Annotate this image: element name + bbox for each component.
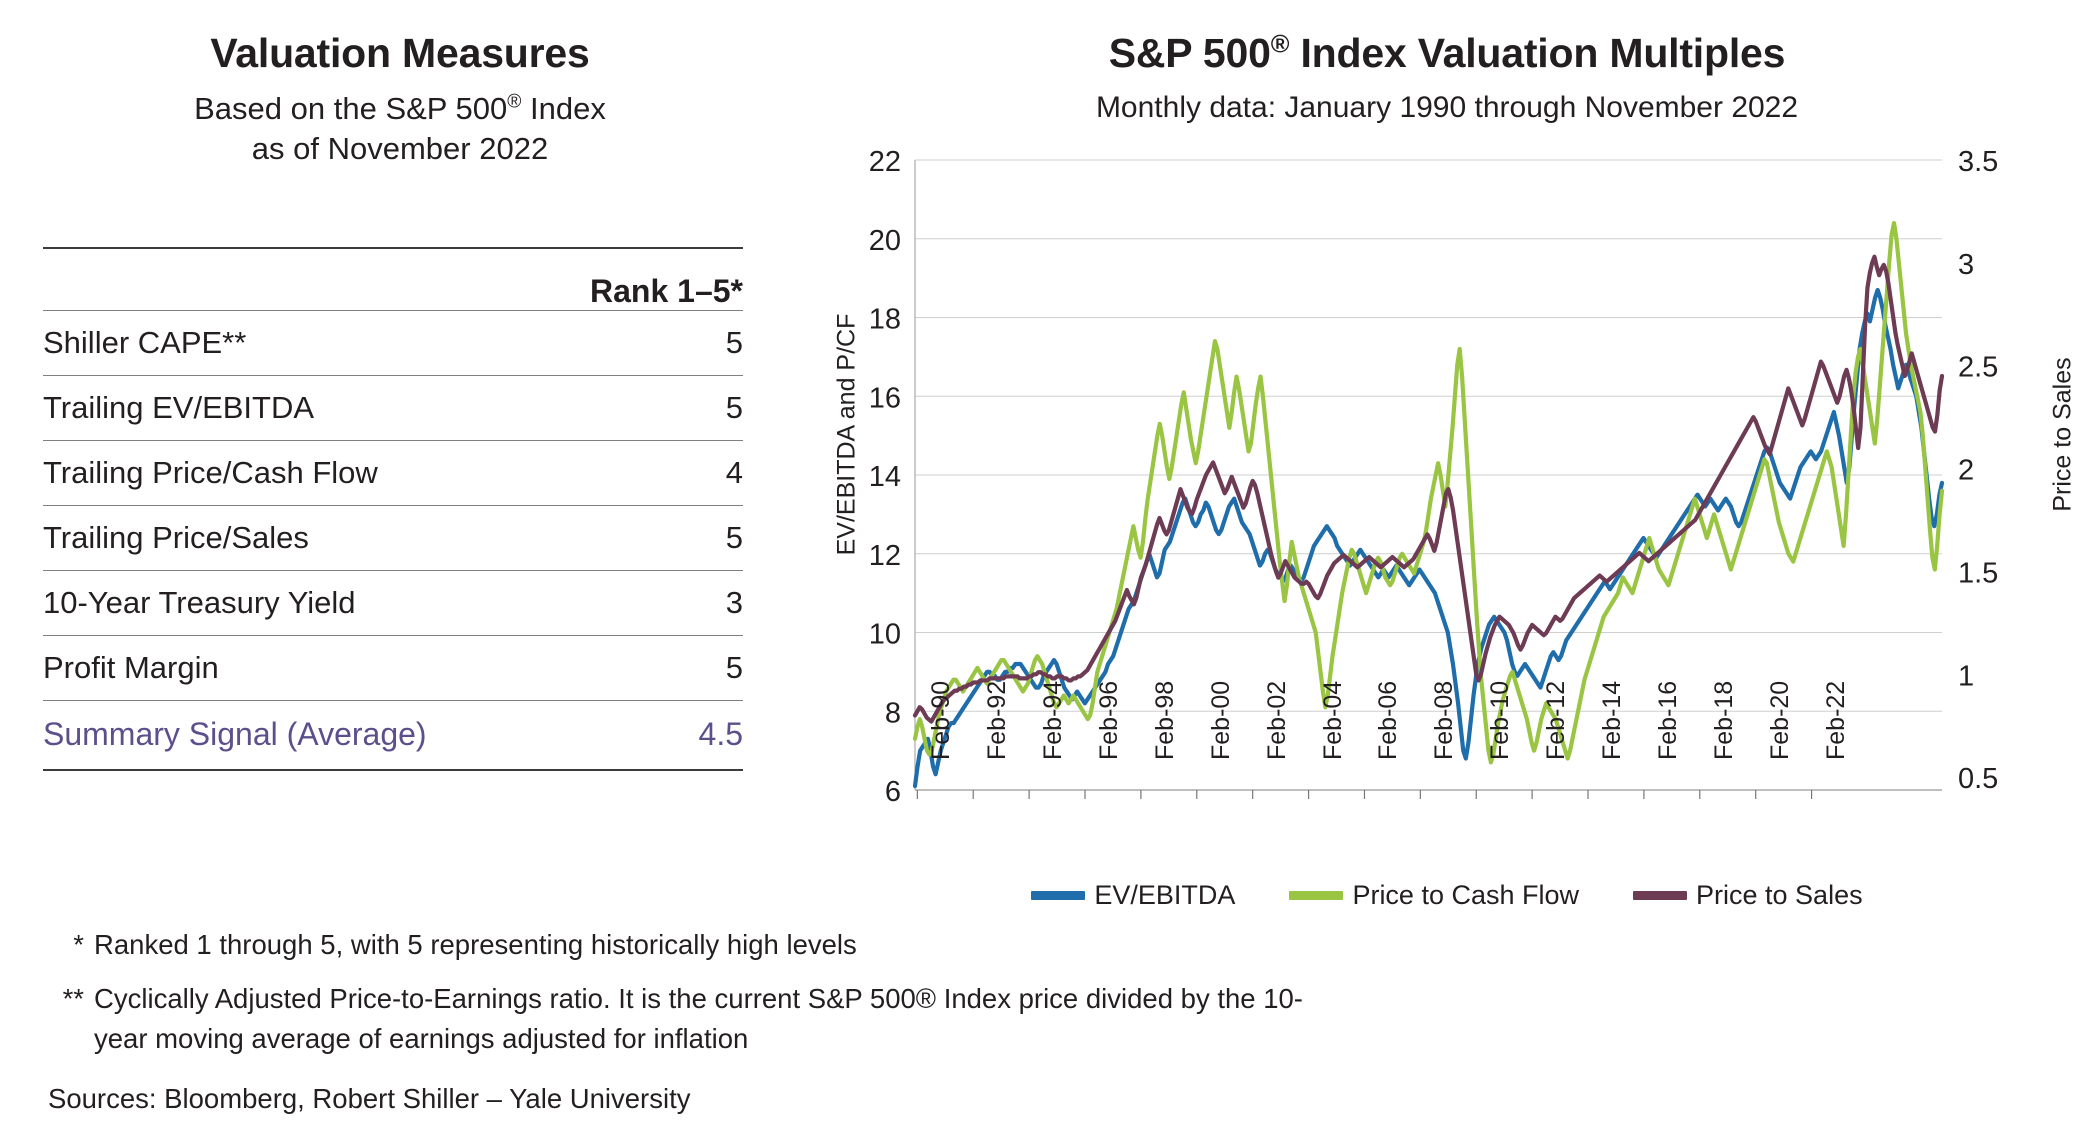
x-axis-tick-label: Feb-14 bbox=[1598, 681, 1627, 760]
table-header-row: Rank 1–5* bbox=[43, 248, 743, 310]
measure-rank: 5 bbox=[543, 505, 743, 570]
legend-item-price-to-sales: Price to Sales bbox=[1633, 880, 1863, 911]
x-axis-tick-label: Feb-12 bbox=[1542, 681, 1571, 760]
x-axis-tick-label: Feb-04 bbox=[1319, 681, 1348, 760]
summary-signal-row: Summary Signal (Average) 4.5 bbox=[43, 700, 743, 770]
subtitle-line-1: Based on the S&P 500® Index bbox=[0, 89, 800, 129]
y-axis-left-tick: 12 bbox=[869, 540, 901, 572]
legend-swatch-price-to-cash-flow bbox=[1289, 891, 1343, 900]
measure-label: 10-Year Treasury Yield bbox=[43, 570, 543, 635]
x-axis-tick-label: Feb-00 bbox=[1207, 681, 1236, 760]
table-row: Trailing Price/Cash Flow 4 bbox=[43, 440, 743, 505]
footnote-marker: ** bbox=[48, 979, 94, 1059]
legend-swatch-price-to-sales bbox=[1633, 891, 1687, 900]
legend-swatch-ev-ebitda bbox=[1031, 891, 1085, 900]
y-axis-left-tick: 8 bbox=[885, 697, 901, 729]
left-panel-subtitle: Based on the S&P 500® Index as of Novemb… bbox=[0, 89, 800, 168]
y-axis-right-tick: 3.5 bbox=[1958, 150, 1998, 178]
measure-label: Shiller CAPE** bbox=[43, 310, 543, 375]
measure-rank: 3 bbox=[543, 570, 743, 635]
y-axis-left-tick: 22 bbox=[869, 150, 901, 178]
x-axis-tick-labels: Feb-90Feb-92Feb-94Feb-96Feb-98Feb-00Feb-… bbox=[800, 760, 2094, 900]
table-row: Shiller CAPE** 5 bbox=[43, 310, 743, 375]
x-axis-tick-label: Feb-94 bbox=[1039, 681, 1068, 760]
y-axis-left-tick: 14 bbox=[869, 461, 901, 493]
column-header-rank: Rank 1–5* bbox=[543, 248, 743, 310]
x-axis-tick-label: Feb-20 bbox=[1766, 681, 1795, 760]
registered-mark-icon: ® bbox=[507, 92, 521, 113]
subtitle-line-2: as of November 2022 bbox=[0, 129, 800, 169]
y-axis-left-tick: 18 bbox=[869, 304, 901, 336]
chart-title: S&P 500® Index Valuation Multiples bbox=[800, 30, 2094, 77]
measure-rank: 5 bbox=[543, 310, 743, 375]
y-axis-right-tick: 2.5 bbox=[1958, 352, 1998, 384]
registered-mark-icon: ® bbox=[1271, 30, 1290, 58]
table-row: Trailing Price/Sales 5 bbox=[43, 505, 743, 570]
column-header-measure bbox=[43, 248, 543, 310]
chart-panel: S&P 500® Index Valuation Multiples Month… bbox=[800, 0, 2094, 1129]
legend-label-price-to-sales: Price to Sales bbox=[1696, 880, 1863, 911]
chart-subtitle: Monthly data: January 1990 through Novem… bbox=[800, 91, 2094, 125]
table-head: Rank 1–5* bbox=[43, 248, 743, 310]
y-axis-left-tick: 20 bbox=[869, 225, 901, 257]
legend-label-price-to-cash-flow: Price to Cash Flow bbox=[1352, 880, 1579, 911]
x-axis-tick-label: Feb-02 bbox=[1263, 681, 1292, 760]
measure-label: Trailing EV/EBITDA bbox=[43, 375, 543, 440]
y-axis-right-tick: 1.5 bbox=[1958, 557, 1998, 589]
measure-label: Profit Margin bbox=[43, 635, 543, 700]
x-axis-tick-label: Feb-18 bbox=[1710, 681, 1739, 760]
y-axis-right-tick: 1 bbox=[1958, 660, 1974, 692]
y-axis-left-tick: 16 bbox=[869, 382, 901, 414]
x-axis-tick-label: Feb-10 bbox=[1486, 681, 1515, 760]
measure-rank: 4 bbox=[543, 440, 743, 505]
measure-rank: 5 bbox=[543, 375, 743, 440]
table-body: Shiller CAPE** 5 Trailing EV/EBITDA 5 Tr… bbox=[43, 310, 743, 770]
measure-label: Trailing Price/Sales bbox=[43, 505, 543, 570]
summary-signal-label: Summary Signal (Average) bbox=[43, 700, 543, 770]
chart-legend: EV/EBITDA Price to Cash Flow Price to Sa… bbox=[800, 880, 2094, 911]
valuation-measures-table: Rank 1–5* Shiller CAPE** 5 Trailing EV/E… bbox=[43, 247, 743, 771]
x-axis-tick-label: Feb-22 bbox=[1822, 681, 1851, 760]
x-axis-tick-label: Feb-16 bbox=[1654, 681, 1683, 760]
table-row: Profit Margin 5 bbox=[43, 635, 743, 700]
table-row: 10-Year Treasury Yield 3 bbox=[43, 570, 743, 635]
x-axis-tick-label: Feb-96 bbox=[1095, 681, 1124, 760]
x-axis-tick-label: Feb-08 bbox=[1430, 681, 1459, 760]
legend-item-price-to-cash-flow: Price to Cash Flow bbox=[1289, 880, 1579, 911]
x-axis-tick-label: Feb-90 bbox=[927, 681, 956, 760]
measure-rank: 5 bbox=[543, 635, 743, 700]
x-axis-tick-label: Feb-92 bbox=[983, 681, 1012, 760]
x-axis-tick-label: Feb-98 bbox=[1151, 681, 1180, 760]
left-panel-title: Valuation Measures bbox=[0, 30, 800, 77]
valuation-measures-page: Valuation Measures Based on the S&P 500®… bbox=[0, 0, 2094, 1129]
footnote-marker: * bbox=[48, 925, 94, 965]
measure-label: Trailing Price/Cash Flow bbox=[43, 440, 543, 505]
x-axis-tick-label: Feb-06 bbox=[1374, 681, 1403, 760]
legend-label-ev-ebitda: EV/EBITDA bbox=[1094, 880, 1235, 911]
summary-signal-value: 4.5 bbox=[543, 700, 743, 770]
y-axis-right-tick: 2 bbox=[1958, 455, 1974, 487]
legend-item-ev-ebitda: EV/EBITDA bbox=[1031, 880, 1235, 911]
series-line-price-to-sales bbox=[915, 257, 1942, 722]
table-row: Trailing EV/EBITDA 5 bbox=[43, 375, 743, 440]
y-axis-left-tick: 10 bbox=[869, 619, 901, 651]
y-axis-right-tick: 3 bbox=[1958, 249, 1974, 281]
